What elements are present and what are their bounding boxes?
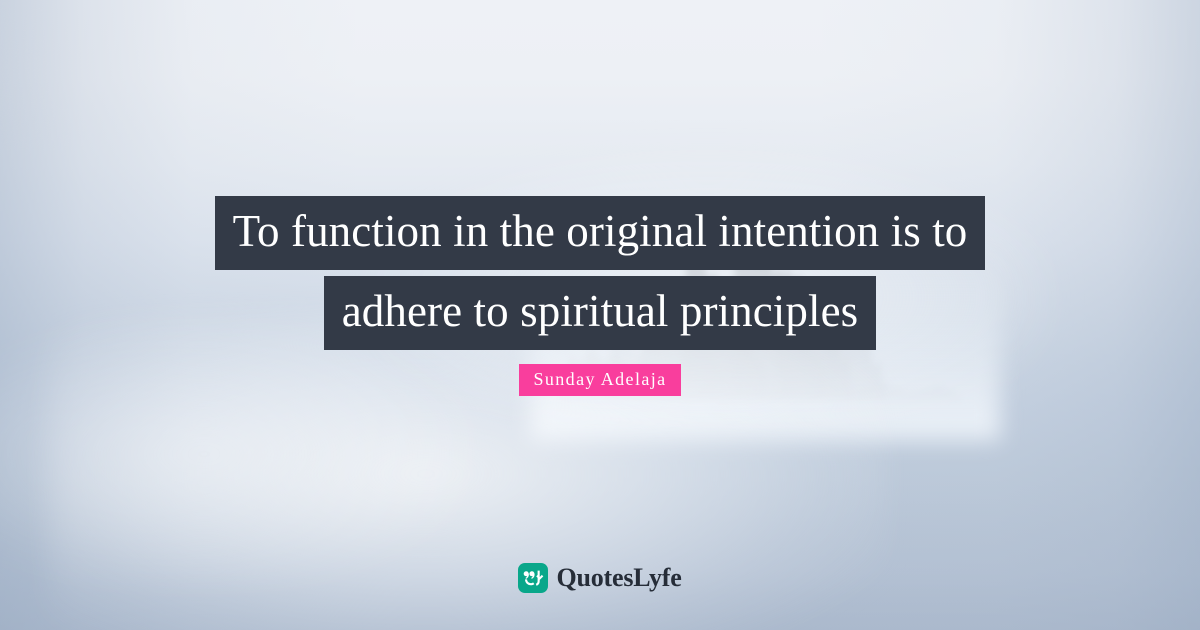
quote-line-2: adhere to spiritual principles bbox=[324, 276, 877, 350]
quote-image-card: To function in the original intention is… bbox=[0, 0, 1200, 630]
quote-text-block: To function in the original intention is… bbox=[0, 196, 1200, 350]
quote-line-1: To function in the original intention is… bbox=[215, 196, 986, 270]
author-name-badge: Sunday Adelaja bbox=[519, 364, 680, 396]
author-row: Sunday Adelaja bbox=[0, 364, 1200, 396]
quote-smiley-icon bbox=[518, 563, 548, 593]
brand-logo[interactable]: QuotesLyfe bbox=[0, 563, 1200, 593]
quote-line-wrapper: To function in the original intention is… bbox=[0, 196, 1200, 270]
quote-line-wrapper: adhere to spiritual principles bbox=[0, 276, 1200, 350]
brand-name-text: QuotesLyfe bbox=[556, 565, 681, 591]
